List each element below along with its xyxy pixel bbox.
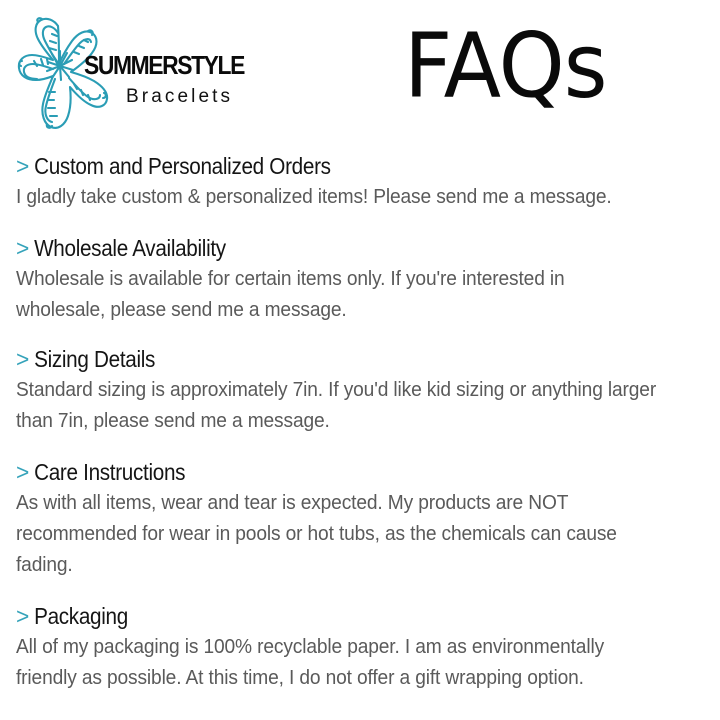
chevron-right-icon: >	[16, 345, 29, 373]
chevron-right-icon: >	[16, 152, 29, 180]
faq-question-label: Care Instructions	[34, 458, 185, 486]
faq-question[interactable]: > Sizing Details	[16, 345, 633, 373]
faq-item-custom-orders: > Custom and Personalized Orders I gladl…	[0, 152, 720, 212]
faq-question-label: Custom and Personalized Orders	[34, 152, 331, 180]
page-title: FAQs	[404, 17, 606, 115]
chevron-right-icon: >	[16, 458, 29, 486]
faq-answer: I gladly take custom & personalized item…	[16, 181, 657, 212]
faq-item-wholesale-availability: > Wholesale Availability Wholesale is av…	[0, 234, 720, 325]
faq-page: SummerStyle Bracelets FAQs > Custom and …	[0, 0, 720, 720]
faq-item-sizing-details: > Sizing Details Standard sizing is appr…	[0, 345, 720, 436]
wordmark-secondary: Bracelets	[126, 86, 308, 108]
faq-question-label: Sizing Details	[34, 345, 155, 373]
chevron-right-icon: >	[16, 234, 29, 262]
faq-question[interactable]: > Care Instructions	[16, 458, 633, 486]
brand-wordmark: SummerStyle Bracelets	[84, 42, 308, 132]
faq-answer: All of my packaging is 100% recyclable p…	[16, 631, 657, 693]
faq-answer: Standard sizing is approximately 7in. If…	[16, 374, 657, 436]
faq-question[interactable]: > Custom and Personalized Orders	[16, 152, 633, 180]
faq-question[interactable]: > Packaging	[16, 602, 633, 630]
faq-answer: Wholesale is available for certain items…	[16, 263, 657, 325]
faq-list: > Custom and Personalized Orders I gladl…	[0, 152, 720, 693]
faq-item-care-instructions: > Care Instructions As with all items, w…	[0, 458, 720, 580]
chevron-right-icon: >	[16, 602, 29, 630]
faq-question-label: Wholesale Availability	[34, 234, 226, 262]
brand-logo: SummerStyle Bracelets	[8, 14, 308, 139]
wordmark-primary: SummerStyle	[84, 42, 281, 82]
faq-answer: As with all items, wear and tear is expe…	[16, 487, 657, 580]
faq-item-packaging: > Packaging All of my packaging is 100% …	[0, 602, 720, 693]
faq-question[interactable]: > Wholesale Availability	[16, 234, 633, 262]
page-header: SummerStyle Bracelets FAQs	[0, 0, 720, 150]
faq-question-label: Packaging	[34, 602, 128, 630]
